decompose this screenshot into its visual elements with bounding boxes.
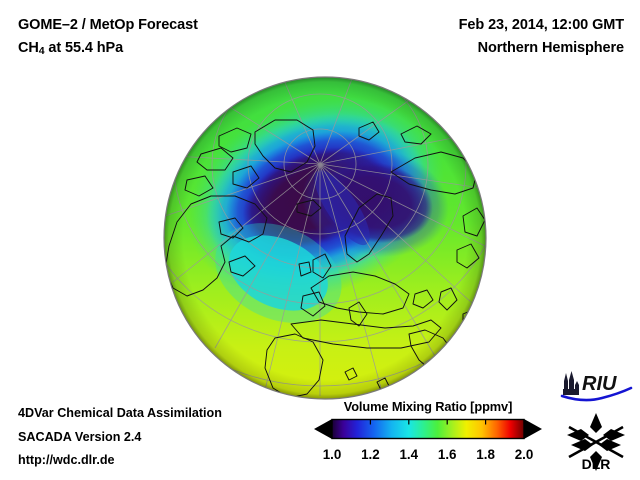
- colorbar-tick-labels: 1.01.21.41.61.82.0: [312, 447, 544, 465]
- level-label: at 55.4 hPa: [45, 40, 124, 56]
- cathedral-icon: [563, 371, 579, 395]
- colorbar-tick-label: 1.2: [361, 447, 380, 462]
- riu-wordmark: RIU: [582, 373, 617, 395]
- colorbar-tick-label: 2.0: [515, 447, 534, 462]
- species-label: CH: [18, 40, 39, 56]
- globe-field: [163, 76, 487, 400]
- globe-svg: [163, 76, 487, 400]
- species-level-title: CH4 at 55.4 hPa: [18, 37, 198, 63]
- colorbar-extend-left: [314, 419, 332, 439]
- version-label: SACADA Version 2.4: [18, 426, 222, 450]
- colorbar-svg: [312, 417, 544, 441]
- valid-time-label: Feb 23, 2014, 12:00 GMT: [459, 14, 624, 37]
- url-label[interactable]: http://wdc.dlr.de: [18, 449, 222, 473]
- colorbar-graphic: [312, 417, 544, 446]
- region-label: Northern Hemisphere: [459, 37, 624, 60]
- header-right: Feb 23, 2014, 12:00 GMT Northern Hemisph…: [459, 14, 624, 60]
- colorbar-tick-label: 1.4: [399, 447, 418, 462]
- riu-logo-svg: RIU: [558, 369, 634, 403]
- colorbar-tick-label: 1.6: [438, 447, 457, 462]
- method-label: 4DVar Chemical Data Assimilation: [18, 402, 222, 426]
- colorbar: Volume Mixing Ratio [ppmv] 1.01.21.41.61…: [312, 399, 544, 465]
- riu-logo: RIU: [558, 369, 634, 403]
- colorbar-gradient: [332, 420, 524, 439]
- figure-canvas: GOME–2 / MetOp Forecast CH4 at 55.4 hPa …: [0, 0, 640, 480]
- header-left: GOME–2 / MetOp Forecast CH4 at 55.4 hPa: [18, 14, 198, 63]
- colorbar-tick-label: 1.8: [476, 447, 495, 462]
- dlr-logo-svg: DLR: [563, 411, 629, 473]
- colorbar-tick-label: 1.0: [323, 447, 342, 462]
- globe-map: [163, 76, 487, 400]
- footer-credits: 4DVar Chemical Data Assimilation SACADA …: [18, 402, 222, 473]
- dlr-logo: DLR: [563, 411, 629, 473]
- dlr-wordmark: DLR: [582, 456, 611, 472]
- colorbar-extend-right: [524, 419, 542, 439]
- colorbar-title: Volume Mixing Ratio [ppmv]: [312, 399, 544, 414]
- instrument-title: GOME–2 / MetOp Forecast: [18, 14, 198, 37]
- limb-shading: [164, 77, 486, 399]
